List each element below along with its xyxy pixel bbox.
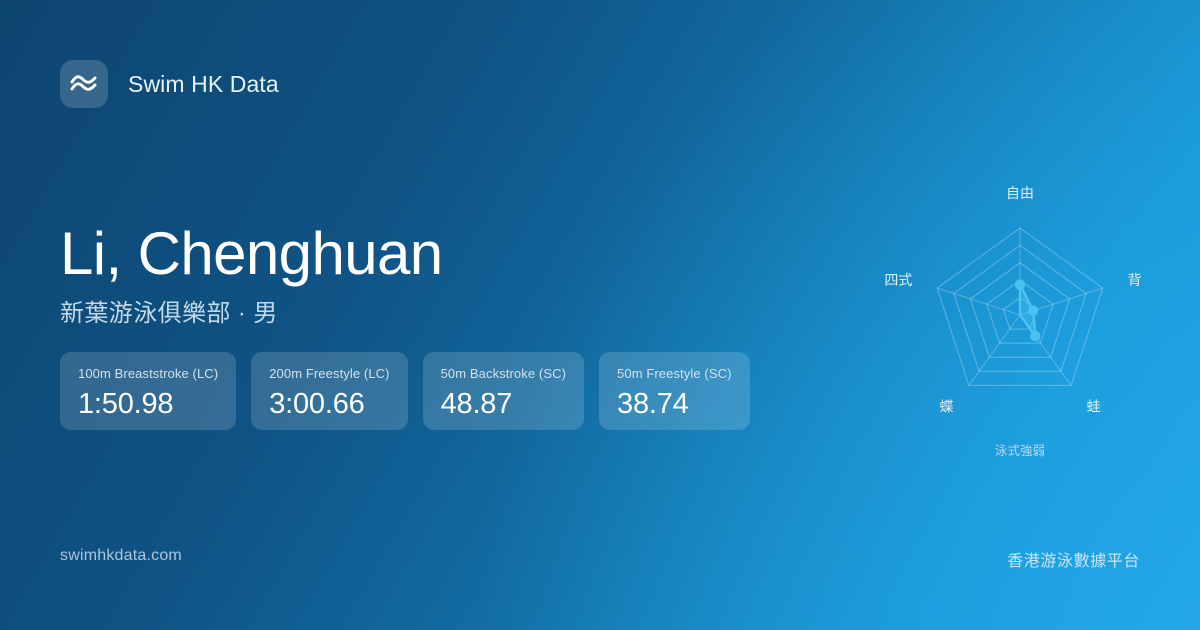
stat-card-value: 1:50.98	[78, 387, 218, 421]
athlete-meta: 新葉游泳俱樂部 · 男	[60, 299, 443, 329]
stat-card: 200m Freestyle (LC) 3:00.66	[251, 352, 407, 430]
radar-caption: 泳式強弱	[995, 444, 1045, 458]
page-title: Li, Chenghuan	[60, 218, 443, 290]
brand-name: Swim HK Data	[128, 71, 279, 98]
radar-axis-labels: 自由背蛙蝶四式	[884, 185, 1141, 415]
footer-tagline: 香港游泳數據平台	[1007, 547, 1140, 571]
stat-card-label: 50m Backstroke (SC)	[441, 366, 566, 382]
stat-card: 100m Breaststroke (LC) 1:50.98	[60, 352, 236, 430]
stat-card: 50m Backstroke (SC) 48.87	[423, 352, 584, 430]
stat-card-label: 100m Breaststroke (LC)	[78, 366, 218, 382]
brand-lockup: Swim HK Data	[60, 60, 279, 108]
stat-card-list: 100m Breaststroke (LC) 1:50.98 200m Free…	[60, 352, 750, 430]
radar-axis-label: 蛙	[1087, 399, 1101, 415]
stroke-strength-radar-chart: 自由背蛙蝶四式 泳式強弱	[880, 175, 1170, 475]
radar-axis-label: 背	[1128, 272, 1142, 288]
stat-card: 50m Freestyle (SC) 38.74	[599, 352, 750, 430]
radar-axis-label: 四式	[884, 272, 912, 288]
stat-card-value: 3:00.66	[269, 387, 389, 421]
stat-card-label: 50m Freestyle (SC)	[617, 366, 732, 382]
radar-axis-label: 蝶	[940, 399, 954, 415]
wave-icon	[60, 60, 108, 108]
stat-card-value: 48.87	[441, 387, 566, 421]
stat-card-value: 38.74	[617, 387, 732, 421]
stat-card-label: 200m Freestyle (LC)	[269, 366, 389, 382]
og-card-canvas: Swim HK Data Li, Chenghuan 新葉游泳俱樂部 · 男 1…	[0, 0, 1200, 630]
hero-block: Li, Chenghuan 新葉游泳俱樂部 · 男	[60, 218, 443, 329]
radar-axis-label: 自由	[1006, 185, 1034, 201]
footer-site-url: swimhkdata.com	[60, 547, 182, 565]
